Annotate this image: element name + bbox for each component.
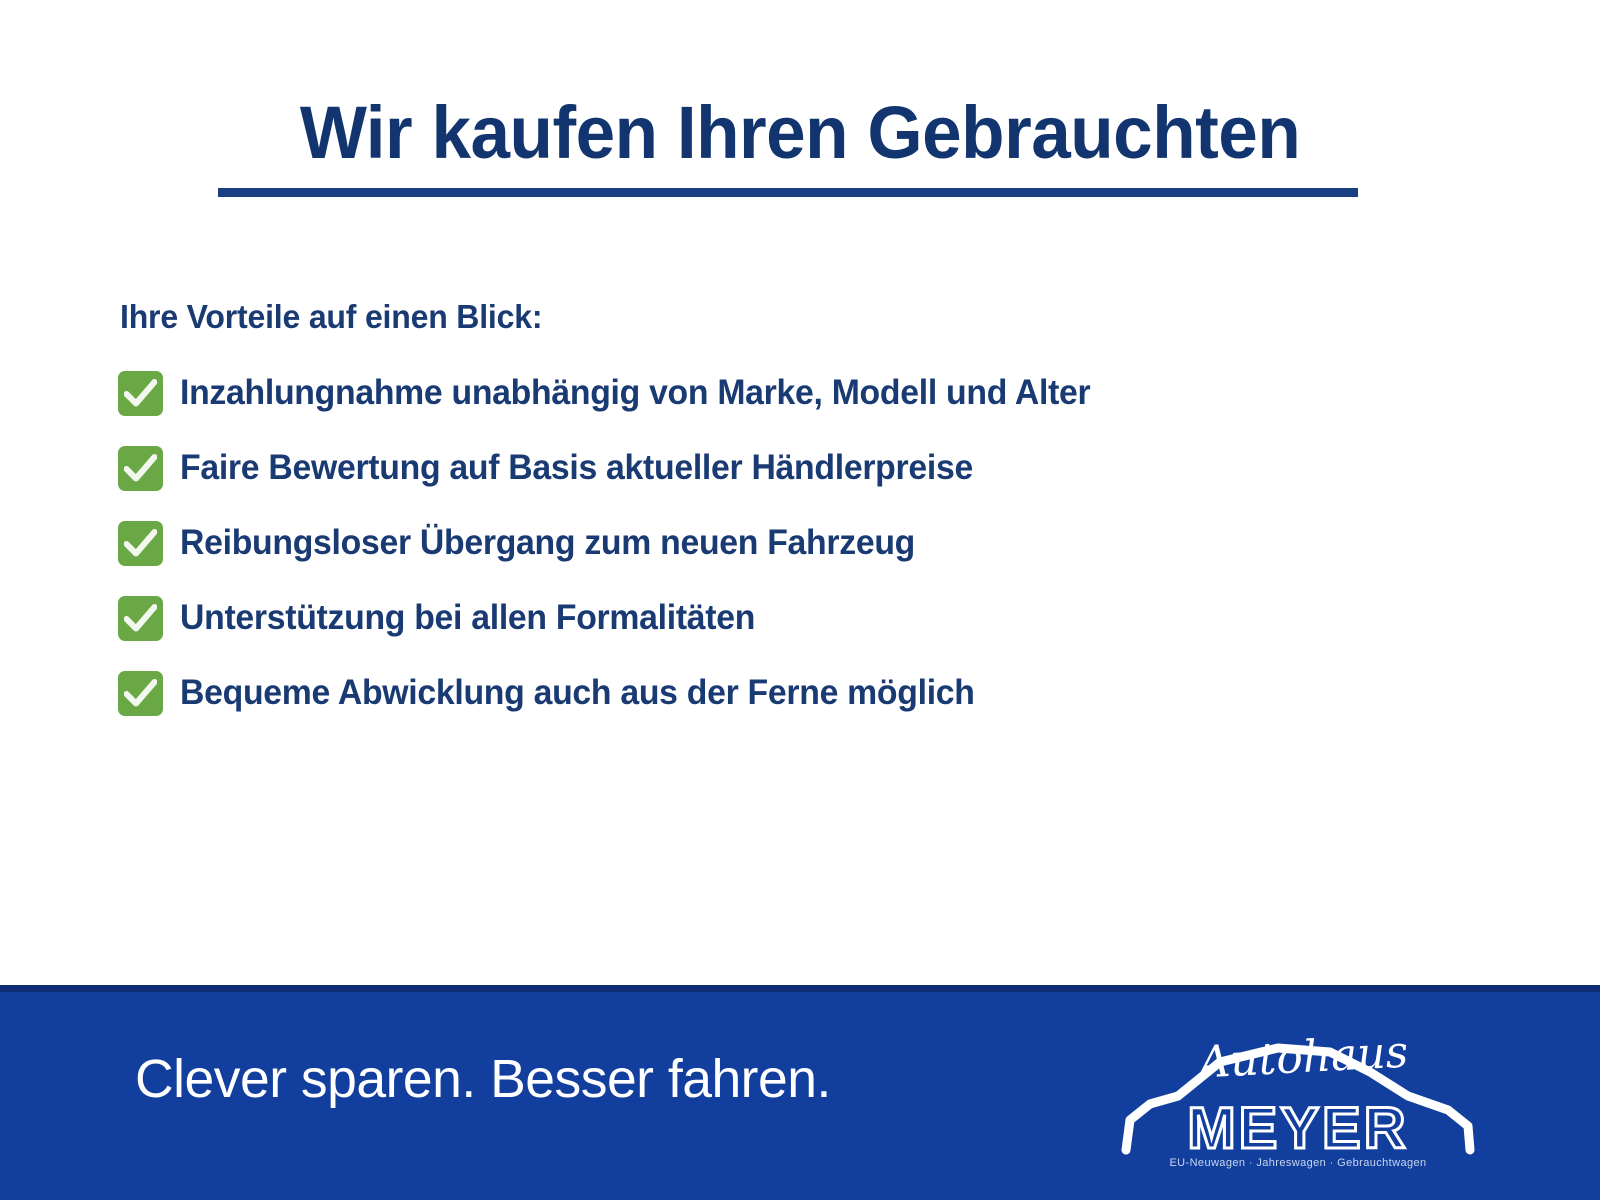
page-title-block: Wir kaufen Ihren Gebrauchten: [0, 96, 1600, 178]
title-underline: [218, 188, 1358, 197]
list-item: Bequeme Abwicklung auch aus der Ferne mö…: [118, 664, 1518, 722]
page-title: Wir kaufen Ihren Gebrauchten: [296, 96, 1304, 178]
check-square-icon: [118, 446, 163, 491]
list-item: Reibungsloser Übergang zum neuen Fahrzeu…: [118, 514, 1518, 572]
list-item: Inzahlungnahme unabhängig von Marke, Mod…: [118, 364, 1518, 422]
check-square-icon: [118, 671, 163, 716]
benefit-label: Reibungsloser Übergang zum neuen Fahrzeu…: [180, 525, 915, 562]
dealer-logo: Autohaus MEYER EU-Neuwagen · Jahreswagen…: [1108, 1000, 1488, 1190]
logo-name-text: MEYER: [1187, 1096, 1408, 1161]
check-square-icon: [118, 521, 163, 566]
list-item: Faire Bewertung auf Basis aktueller Händ…: [118, 439, 1518, 497]
footer-bar: Clever sparen. Besser fahren. Autohaus M…: [0, 985, 1600, 1200]
slide-root: Wir kaufen Ihren Gebrauchten Ihre Vortei…: [0, 0, 1600, 1200]
benefit-label: Bequeme Abwicklung auch aus der Ferne mö…: [180, 675, 975, 712]
benefit-label: Faire Bewertung auf Basis aktueller Händ…: [180, 450, 973, 487]
benefit-label: Inzahlungnahme unabhängig von Marke, Mod…: [180, 375, 1090, 412]
logo-tagline-text: EU-Neuwagen · Jahreswagen · Gebrauchtwag…: [1169, 1157, 1426, 1169]
footer-slogan: Clever sparen. Besser fahren.: [135, 1048, 831, 1110]
check-square-icon: [118, 371, 163, 416]
benefits-heading: Ihre Vorteile auf einen Blick:: [120, 298, 1476, 336]
list-item: Unterstützung bei allen Formalitäten: [118, 589, 1518, 647]
benefits-section: Ihre Vorteile auf einen Blick: Inzahlung…: [118, 298, 1518, 739]
check-square-icon: [118, 596, 163, 641]
benefit-label: Unterstützung bei allen Formalitäten: [180, 600, 755, 637]
